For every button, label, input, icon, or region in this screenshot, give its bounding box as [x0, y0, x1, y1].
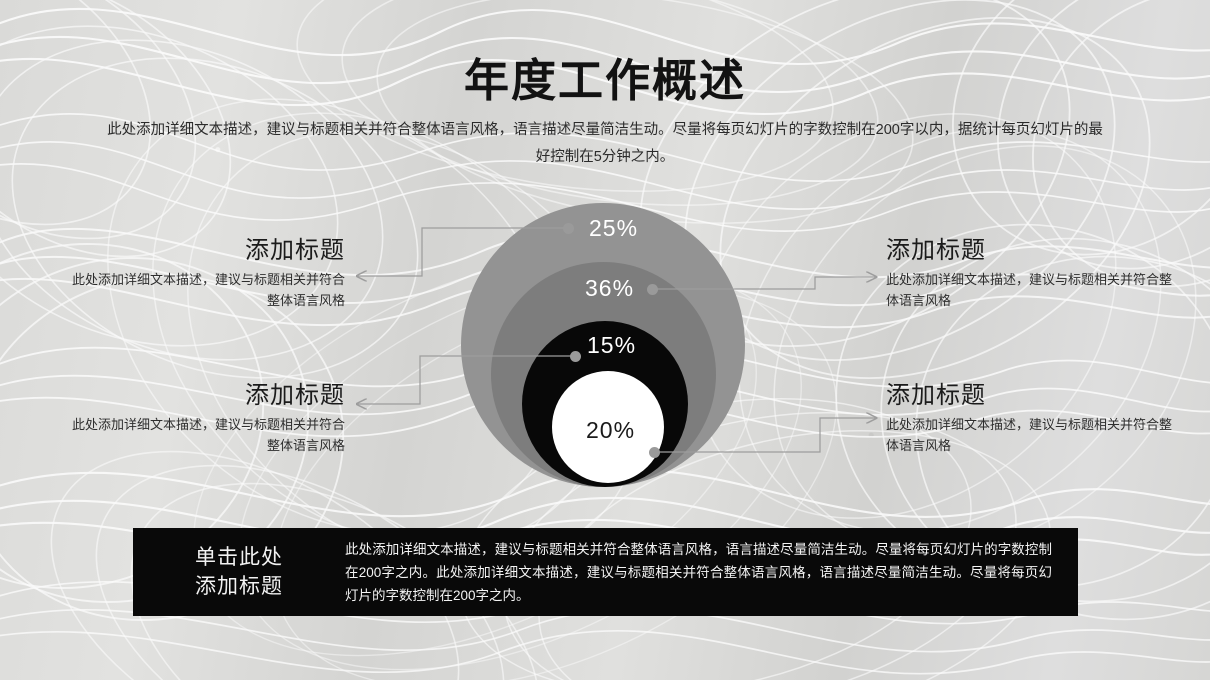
page-title: 年度工作概述	[0, 44, 1210, 109]
footer-text-panel[interactable]: 单击此处 添加标题 此处添加详细文本描述，建议与标题相关并符合整体语言风格，语言…	[133, 528, 1078, 616]
connector-dot-top-left	[563, 223, 574, 234]
footer-body: 此处添加详细文本描述，建议与标题相关并符合整体语言风格，语言描述尽量简洁生动。尽…	[345, 538, 1078, 607]
callout-bottom-left[interactable]: 添加标题 此处添加详细文本描述，建议与标题相关并符合整体语言风格	[60, 381, 345, 456]
connector-dot-bottom-right	[649, 447, 660, 458]
callout-top-left-heading: 添加标题	[60, 236, 345, 266]
callout-top-left[interactable]: 添加标题 此处添加详细文本描述，建议与标题相关并符合整体语言风格	[60, 236, 345, 311]
footer-heading-line1: 单击此处	[133, 543, 345, 572]
callout-bottom-left-body: 此处添加详细文本描述，建议与标题相关并符合整体语言风格	[60, 414, 345, 456]
connector-dot-bottom-left	[570, 351, 581, 362]
page-subtitle: 此处添加详细文本描述，建议与标题相关并符合整体语言风格，语言描述尽量简洁生动。尽…	[105, 117, 1105, 171]
footer-heading: 单击此处 添加标题	[133, 543, 345, 601]
ring-label-15: 15%	[587, 332, 636, 359]
callout-top-left-body: 此处添加详细文本描述，建议与标题相关并符合整体语言风格	[60, 269, 345, 311]
ring-label-25: 25%	[589, 215, 638, 242]
connector-bottom-right	[654, 418, 876, 452]
callout-bottom-right-body: 此处添加详细文本描述，建议与标题相关并符合整体语言风格	[886, 414, 1176, 456]
callout-top-right-heading: 添加标题	[886, 236, 1176, 266]
connector-bottom-left	[357, 356, 575, 404]
ring-label-36: 36%	[585, 275, 634, 302]
callout-top-right[interactable]: 添加标题 此处添加详细文本描述，建议与标题相关并符合整体语言风格	[886, 236, 1176, 311]
connector-top-left	[357, 228, 568, 276]
callout-bottom-right-heading: 添加标题	[886, 381, 1176, 411]
callout-bottom-left-heading: 添加标题	[60, 381, 345, 411]
callout-bottom-right[interactable]: 添加标题 此处添加详细文本描述，建议与标题相关并符合整体语言风格	[886, 381, 1176, 456]
ring-label-20: 20%	[586, 417, 635, 444]
connector-top-right	[652, 277, 876, 289]
callout-top-right-body: 此处添加详细文本描述，建议与标题相关并符合整体语言风格	[886, 269, 1176, 311]
connector-dot-top-right	[647, 284, 658, 295]
footer-heading-line2: 添加标题	[133, 572, 345, 601]
